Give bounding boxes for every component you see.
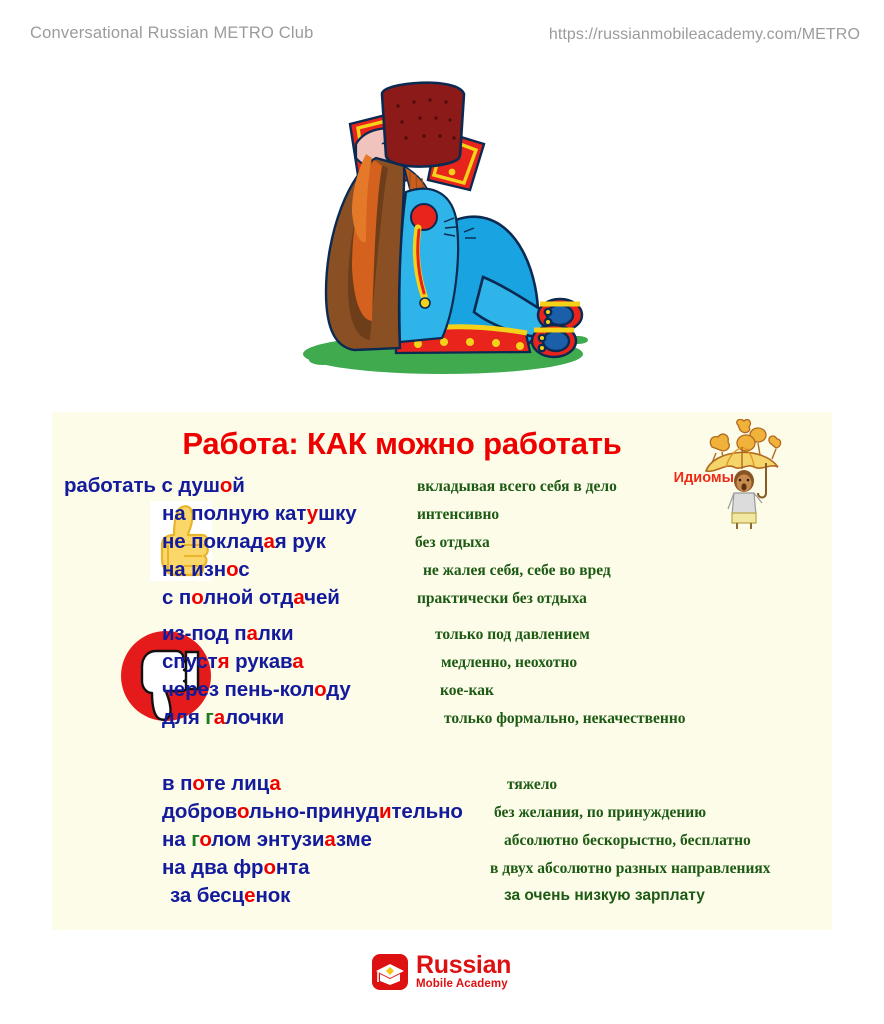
phrase-row: на износ не жалея себя, себе во вред [52,558,832,586]
phrase-text: через пень-колоду [162,678,351,702]
phrase-row: в поте лица тяжело [52,772,832,800]
meaning-text: в двух абсолютно разных направлениях [490,860,771,878]
phrase-row: для галочки только формально, некачестве… [52,706,832,734]
phrase-row: за бесценок за очень низкую зарплату [52,884,832,912]
phrase-text: спустя рукава [162,650,304,674]
phrase-text: из-под палки [162,622,293,646]
phrase-rows-negative: из-под палки только под давлением спустя… [52,622,832,734]
phrase-group-neutral: в поте лица тяжело добровольно-принудите… [52,772,832,902]
phrase-row: через пень-колоду кое-как [52,678,832,706]
phrase-row: на полную катушку интенсивно [52,502,832,530]
phrase-text: за бесценок [170,884,290,908]
phrase-group-positive: работать с душой вкладывая всего себя в … [52,474,832,614]
meaning-text: без желания, по принуждению [494,804,706,822]
meaning-text: практически без отдыха [417,590,587,608]
meaning-text: интенсивно [417,506,499,524]
sleeping-boyar-illustration [278,72,598,377]
meaning-text: тяжело [507,776,557,794]
lesson-card: Работа: КАК можно работать Идиомы [52,412,832,930]
logo-text: Russian Mobile Academy [416,952,526,991]
phrase-row: спустя рукава медленно, неохотно [52,650,832,678]
logo-name: Russian [416,952,526,978]
phrase-text: добровольно-принудительно [162,800,463,824]
phrase-text: на голом энтузиазме [162,828,372,852]
meaning-text: только под давлением [435,626,590,644]
logo-tagline: Mobile Academy [416,978,526,991]
phrase-rows-positive: работать с душой вкладывая всего себя в … [52,474,832,614]
phrase-text: в поте лица [162,772,281,796]
phrase-row: на голом энтузиазме абсолютно бескорыстн… [52,828,832,856]
page-header: Conversational Russian METRO Club https:… [0,24,884,50]
idioms-label: Идиомы [674,470,734,486]
phrase-text: для галочки [162,706,284,730]
phrase-text: не покладая рук [162,530,326,554]
meaning-text: за очень низкую зарплату [504,887,705,905]
meaning-text: медленно, неохотно [441,654,577,672]
meaning-text: не жалея себя, себе во вред [423,562,611,580]
meaning-text: абсолютно бескорыстно, бесплатно [504,832,751,850]
header-title: Conversational Russian METRO Club [30,24,314,43]
meaning-text: без отдыха [415,534,490,552]
phrase-row: на два фронта в двух абсолютно разных на… [52,856,832,884]
phrase-text: на полную катушку [162,502,357,526]
phrase-text: на два фронта [162,856,309,880]
header-url[interactable]: https://russianmobileacademy.com/METRO [549,26,860,44]
phrase-text: с полной отдачей [162,586,340,610]
phrase-row: не покладая рук без отдыха [52,530,832,558]
meaning-text: вкладывая всего себя в дело [417,478,617,496]
meaning-text: только формально, некачественно [444,710,686,728]
brand-logo[interactable]: Russian Mobile Academy [372,952,520,998]
phrase-row: из-под палки только под давлением [52,622,832,650]
meaning-text: кое-как [440,682,494,700]
phrase-rows-neutral: в поте лица тяжело добровольно-принудите… [52,772,832,912]
phrase-row: добровольно-принудительно без желания, п… [52,800,832,828]
graduation-cap-icon [372,954,408,990]
phrase-text: на износ [162,558,250,582]
phrase-group-negative: из-под палки только под давлением спустя… [52,622,832,732]
phrase-row: с полной отдачей практически без отдыха [52,586,832,614]
card-title: Работа: КАК можно работать [52,426,752,462]
phrase-text: работать с душой [64,474,245,498]
